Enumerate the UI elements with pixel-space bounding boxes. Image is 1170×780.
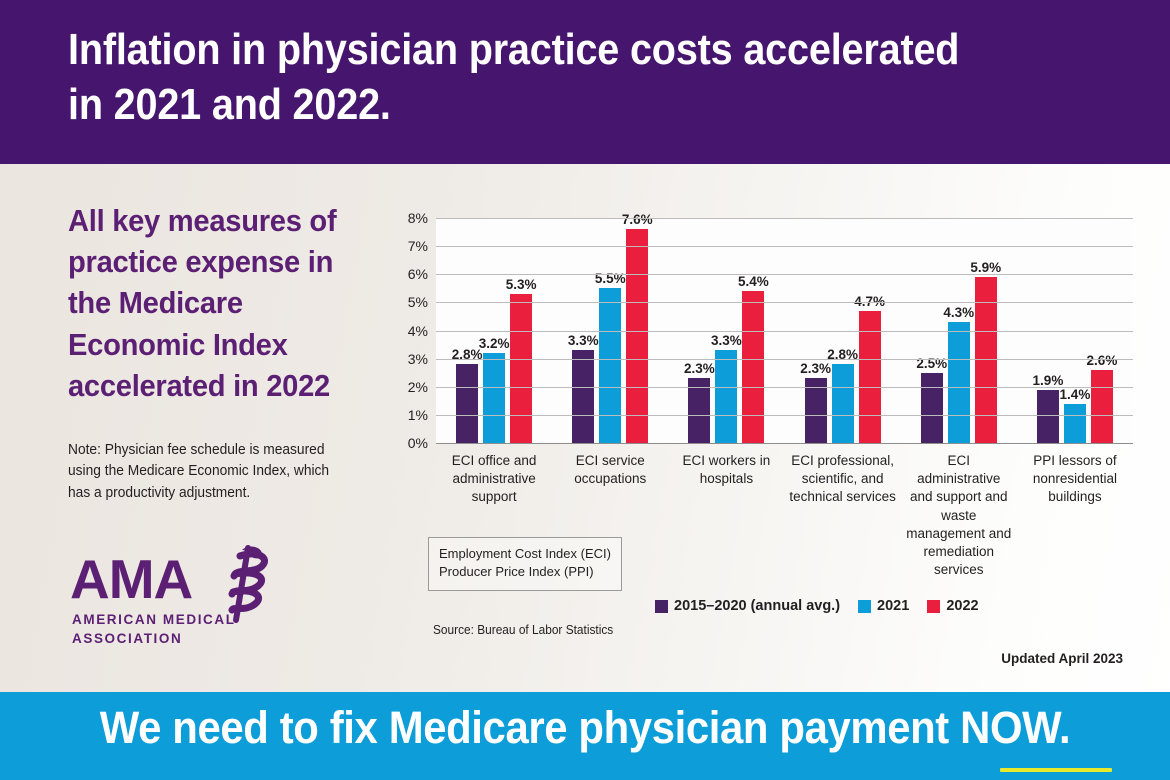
bar-value-label: 2.3% bbox=[684, 361, 715, 376]
bar: 2.5% bbox=[921, 373, 943, 443]
chart-legend: 2015–2020 (annual avg.)20212022 bbox=[655, 598, 979, 614]
gridline bbox=[436, 331, 1133, 332]
footer-underline-accent bbox=[1000, 768, 1112, 772]
bar-fill bbox=[456, 364, 478, 443]
bar: 1.4% bbox=[1064, 404, 1086, 443]
bar: 4.3% bbox=[948, 322, 970, 443]
header-band: Inflation in physician practice costs ac… bbox=[0, 0, 1170, 164]
legend-swatch-icon bbox=[655, 600, 668, 613]
bar-value-label: 5.9% bbox=[970, 260, 1001, 275]
category-label: PPI lessors of nonresidential buildings bbox=[1017, 452, 1133, 507]
bar: 5.4% bbox=[742, 291, 764, 443]
bar-chart: 0%1%2%3%4%5%6%7%8% 2.8%3.2%5.3%3.3%5.5%7… bbox=[392, 218, 1137, 443]
gridline bbox=[436, 246, 1133, 247]
legend-swatch-icon bbox=[927, 600, 940, 613]
gridline bbox=[436, 359, 1133, 360]
legend-swatch-icon bbox=[858, 600, 871, 613]
footer-band: We need to fix Medicare physician paymen… bbox=[0, 692, 1170, 780]
bar: 3.2% bbox=[483, 353, 505, 443]
gridline bbox=[436, 387, 1133, 388]
bar-value-label: 4.7% bbox=[854, 294, 885, 309]
y-axis: 0%1%2%3%4%5%6%7%8% bbox=[392, 218, 428, 443]
bar-value-label: 5.4% bbox=[738, 274, 769, 289]
bar-fill bbox=[510, 294, 532, 443]
legend-label: 2022 bbox=[946, 598, 978, 614]
bar-fill bbox=[599, 288, 621, 443]
bar-fill bbox=[742, 291, 764, 443]
bar: 1.9% bbox=[1037, 390, 1059, 443]
gridline bbox=[436, 415, 1133, 416]
bar: 2.3% bbox=[805, 378, 827, 443]
bar-fill bbox=[921, 373, 943, 443]
legend-item[interactable]: 2022 bbox=[927, 598, 978, 614]
bar-fill bbox=[572, 350, 594, 443]
bar-fill bbox=[688, 378, 710, 443]
bar-fill bbox=[483, 353, 505, 443]
category-label: ECI professional, scientific, and techni… bbox=[785, 452, 901, 507]
bar-value-label: 1.9% bbox=[1033, 373, 1064, 388]
legend-label: 2015–2020 (annual avg.) bbox=[674, 598, 840, 614]
bar: 3.3% bbox=[572, 350, 594, 443]
note-text: Note: Physician fee schedule is measured… bbox=[68, 440, 339, 504]
legend-label: 2021 bbox=[877, 598, 909, 614]
bar-fill bbox=[715, 350, 737, 443]
bar-fill bbox=[948, 322, 970, 443]
bar: 3.3% bbox=[715, 350, 737, 443]
y-axis-tick-label: 0% bbox=[392, 435, 428, 451]
bar-value-label: 2.8% bbox=[827, 347, 858, 362]
bar-value-label: 3.3% bbox=[711, 333, 742, 348]
updated-date: Updated April 2023 bbox=[1001, 651, 1123, 666]
legend-item[interactable]: 2021 bbox=[858, 598, 909, 614]
legend-item[interactable]: 2015–2020 (annual avg.) bbox=[655, 598, 840, 614]
axis-baseline bbox=[436, 443, 1133, 444]
y-axis-tick-label: 3% bbox=[392, 351, 428, 367]
bar-value-label: 2.3% bbox=[800, 361, 831, 376]
y-axis-tick-label: 6% bbox=[392, 266, 428, 282]
category-label: ECI office and administrative support bbox=[436, 452, 552, 507]
bar-fill bbox=[626, 229, 648, 443]
page-title: Inflation in physician practice costs ac… bbox=[68, 23, 1004, 132]
left-column: All key measures of practice expense in … bbox=[68, 200, 368, 504]
y-axis-tick-label: 7% bbox=[392, 238, 428, 254]
bar: 5.5% bbox=[599, 288, 621, 443]
bar: 7.6% bbox=[626, 229, 648, 443]
bar-value-label: 7.6% bbox=[622, 212, 653, 227]
y-axis-tick-label: 8% bbox=[392, 210, 428, 226]
asclepius-rod-icon bbox=[196, 544, 282, 629]
bar: 2.3% bbox=[688, 378, 710, 443]
y-axis-tick-label: 1% bbox=[392, 407, 428, 423]
bar: 5.3% bbox=[510, 294, 532, 443]
definition-line-eci: Employment Cost Index (ECI) bbox=[439, 545, 611, 563]
bar-fill bbox=[1037, 390, 1059, 443]
bar: 2.8% bbox=[832, 364, 854, 443]
gridline bbox=[436, 302, 1133, 303]
index-definition-box: Employment Cost Index (ECI) Producer Pri… bbox=[428, 537, 622, 591]
y-axis-tick-label: 2% bbox=[392, 379, 428, 395]
source-text: Source: Bureau of Labor Statistics bbox=[433, 623, 613, 637]
ama-logo: AMA AMERICAN MEDICAL ASSOCIATION bbox=[70, 552, 285, 647]
plot-area: 2.8%3.2%5.3%3.3%5.5%7.6%2.3%3.3%5.4%2.3%… bbox=[436, 218, 1133, 443]
category-label: ECI administrative and support and waste… bbox=[901, 452, 1017, 580]
y-axis-tick-label: 5% bbox=[392, 294, 428, 310]
bar: 2.6% bbox=[1091, 370, 1113, 443]
definition-line-ppi: Producer Price Index (PPI) bbox=[439, 563, 611, 581]
bar-value-label: 3.3% bbox=[568, 333, 599, 348]
gridline bbox=[436, 218, 1133, 219]
bar: 2.8% bbox=[456, 364, 478, 443]
infographic-root: Inflation in physician practice costs ac… bbox=[0, 0, 1170, 780]
subheading: All key measures of practice expense in … bbox=[68, 200, 350, 406]
y-axis-tick-label: 4% bbox=[392, 323, 428, 339]
category-label: ECI workers in hospitals bbox=[668, 452, 784, 488]
bar-value-label: 5.3% bbox=[506, 277, 537, 292]
ama-wordmark: AMA bbox=[70, 552, 192, 607]
bar-fill bbox=[1091, 370, 1113, 443]
bar-fill bbox=[832, 364, 854, 443]
category-label: ECI service occupations bbox=[552, 452, 668, 488]
ama-logo-line2: ASSOCIATION bbox=[72, 632, 182, 646]
bar-value-label: 2.6% bbox=[1087, 353, 1118, 368]
bar-value-label: 1.4% bbox=[1060, 387, 1091, 402]
footer-call-to-action: We need to fix Medicare physician paymen… bbox=[41, 702, 1129, 754]
bar-fill bbox=[1064, 404, 1086, 443]
bar-value-label: 3.2% bbox=[479, 336, 510, 351]
bar-value-label: 4.3% bbox=[943, 305, 974, 320]
gridline bbox=[436, 274, 1133, 275]
bar-fill bbox=[805, 378, 827, 443]
